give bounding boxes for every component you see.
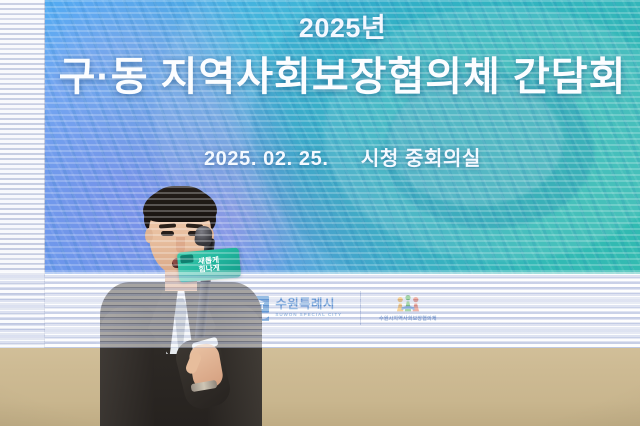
speaker-figure: 새롭게 힘나게 xyxy=(96,186,266,426)
left-arm xyxy=(100,306,154,426)
people-group-icon xyxy=(395,294,421,313)
hair-top xyxy=(143,188,217,222)
slide-date-location: 2025. 02. 25. 시청 중회의실 xyxy=(45,142,640,171)
mic-flag-chip xyxy=(180,254,194,263)
nose xyxy=(176,237,185,253)
suwon-logo-english: SUWON SPECIAL CITY xyxy=(275,313,342,318)
slide-date: 2025. 02. 25. xyxy=(204,148,329,170)
suwon-logo-korean: 수원특례시 xyxy=(275,298,342,311)
microphone-head-icon xyxy=(194,225,213,247)
mic-flag-line-2: 힘나게 xyxy=(198,264,220,274)
microphone-flag-badge: 새롭게 힘나게 xyxy=(177,247,241,282)
suwon-logo-wordmark: 수원특례시 SUWON SPECIAL CITY xyxy=(275,298,342,317)
photo-frame: 2025년 구·동 지역사회보장협의체 간담회 2025. 02. 25. 시청… xyxy=(0,0,640,426)
slide-title: 구·동 지역사회보장협의체 간담회 xyxy=(45,44,640,102)
left-wall-panel xyxy=(0,0,47,348)
slide-year-line: 2025년 xyxy=(45,6,640,45)
ear-left xyxy=(145,228,153,243)
logo-community-security-council: 수원시지역사회보장협의체 xyxy=(361,294,437,322)
council-logo-korean: 수원시지역사회보장협의체 xyxy=(379,315,437,322)
eye-left xyxy=(161,231,174,236)
slide-location: 시청 중회의실 xyxy=(361,148,481,170)
